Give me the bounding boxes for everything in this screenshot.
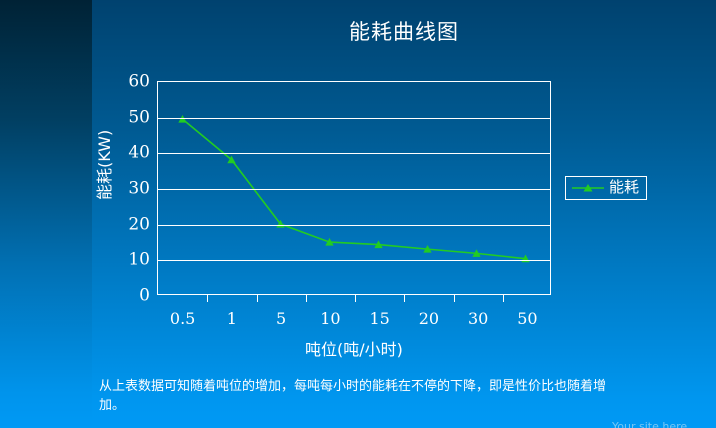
legend-label-energy: 能耗 [609, 180, 639, 195]
page-title: 能耗曲线图 [92, 16, 716, 46]
y-axis-tick-label: 30 [110, 181, 150, 198]
chart-legend[interactable]: 能耗 [565, 176, 647, 200]
x-axis-tick [454, 294, 455, 302]
y-axis-tick-label: 10 [110, 252, 150, 269]
x-axis-tick-label: 20 [419, 311, 439, 327]
x-axis-tick-label: 10 [320, 311, 340, 327]
watermark-text: Your site here [612, 420, 687, 428]
y-axis-tick-label: 50 [110, 109, 150, 126]
left-decorative-band [0, 0, 92, 428]
x-axis-tick-label: 30 [468, 311, 488, 327]
gridline [158, 153, 550, 154]
y-axis-tick-label: 60 [110, 74, 150, 91]
x-axis-tick [355, 294, 356, 302]
x-axis-tick [503, 294, 504, 302]
y-axis-tick-label: 20 [110, 216, 150, 233]
gridline [158, 260, 550, 261]
x-axis-tick [207, 294, 208, 302]
x-axis-tick-label: 0.5 [170, 311, 195, 327]
x-axis-tick [257, 294, 258, 302]
y-axis-tick-label: 40 [110, 145, 150, 162]
x-axis-tick [306, 294, 307, 302]
gridline [158, 189, 550, 190]
x-axis-tick-label: 50 [517, 311, 537, 327]
gridline [158, 118, 550, 119]
x-axis-label: 吨位(吨/小时) [157, 336, 551, 360]
legend-series-marker-icon [571, 182, 605, 194]
x-axis-tick [404, 294, 405, 302]
gridline [158, 225, 550, 226]
slide-canvas: 能耗曲线图 能耗(KW) 01020304050600.515101520305… [0, 0, 716, 428]
slide-caption: 从上表数据可知随着吨位的增加，每吨每小时的能耗在不停的下降，即是性价比也随着增加… [99, 378, 619, 416]
x-axis-tick-label: 15 [369, 311, 389, 327]
series-line-layer [158, 82, 550, 294]
x-axis-tick-label: 1 [227, 311, 237, 327]
y-axis-tick-label: 0 [110, 288, 150, 305]
chart-plot-area: 01020304050600.5151015203050 [157, 81, 551, 295]
x-axis-tick-label: 5 [276, 311, 286, 327]
series-data-point [178, 115, 186, 123]
